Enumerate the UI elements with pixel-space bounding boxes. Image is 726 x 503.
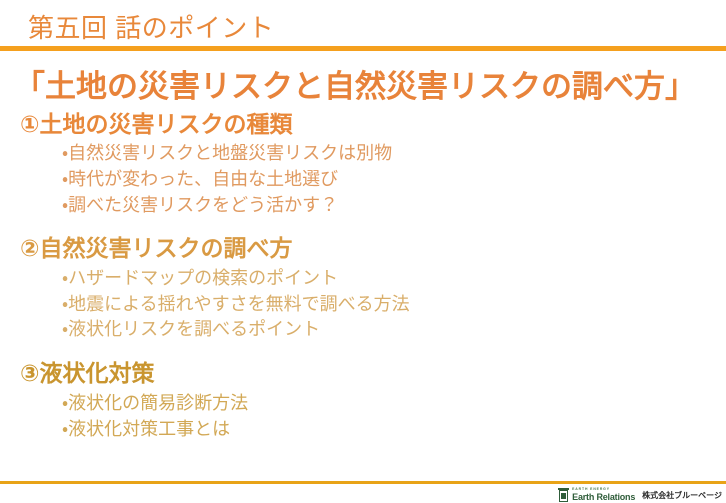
- footer: EARTH ENERGY Earth Relations 株式会社ブルーベージ: [558, 488, 722, 502]
- sections-list: ①土地の災害リスクの種類 ・自然災害リスクと地盤災害リスクは別物 ・時代が変わっ…: [0, 110, 726, 447]
- section-2-bullets: ・ハザードマップの検索のポイント ・地震による揺れやすさを無料で調べる方法 ・液…: [0, 266, 726, 344]
- section-1: ①土地の災害リスクの種類 ・自然災害リスクと地盤災害リスクは別物 ・時代が変わっ…: [0, 110, 726, 219]
- logo-text: EARTH ENERGY Earth Relations: [572, 488, 635, 501]
- list-item: ・調べた災害リスクをどう活かす？: [62, 193, 726, 219]
- lighthouse-icon: [558, 488, 569, 502]
- section-1-heading: ①土地の災害リスクの種類: [0, 110, 726, 139]
- section-2: ②自然災害リスクの調べ方 ・ハザードマップの検索のポイント ・地震による揺れやす…: [0, 234, 726, 343]
- footer-divider: [0, 481, 726, 484]
- section-3: ③液状化対策 ・液状化の簡易診断方法 ・液状化対策工事とは: [0, 359, 726, 442]
- list-item: ・液状化の簡易診断方法: [62, 391, 726, 417]
- logo-name: Earth Relations: [572, 493, 635, 502]
- list-item: ・自然災害リスクと地盤災害リスクは別物: [62, 141, 726, 167]
- list-item: ・液状化対策工事とは: [62, 417, 726, 443]
- list-item: ・ハザードマップの検索のポイント: [62, 266, 726, 292]
- section-3-heading: ③液状化対策: [0, 359, 726, 388]
- company-name: 株式会社ブルーベージ: [642, 490, 722, 501]
- list-item: ・液状化リスクを調べるポイント: [62, 317, 726, 343]
- section-2-heading: ②自然災害リスクの調べ方: [0, 234, 726, 263]
- list-item: ・時代が変わった、自由な土地選び: [62, 167, 726, 193]
- section-1-bullets: ・自然災害リスクと地盤災害リスクは別物 ・時代が変わった、自由な土地選び ・調べ…: [0, 141, 726, 219]
- slide-root: 第五回 話のポイント 「土地の災害リスクと自然災害リスクの調べ方」 ①土地の災害…: [0, 0, 726, 503]
- list-item: ・地震による揺れやすさを無料で調べる方法: [62, 292, 726, 318]
- page-title: 第五回 話のポイント: [28, 8, 274, 45]
- section-3-bullets: ・液状化の簡易診断方法 ・液状化対策工事とは: [0, 391, 726, 443]
- title-divider: [0, 46, 726, 51]
- brand-logo: EARTH ENERGY Earth Relations: [558, 488, 635, 502]
- page-subtitle: 「土地の災害リスクと自然災害リスクの調べ方」: [14, 61, 696, 106]
